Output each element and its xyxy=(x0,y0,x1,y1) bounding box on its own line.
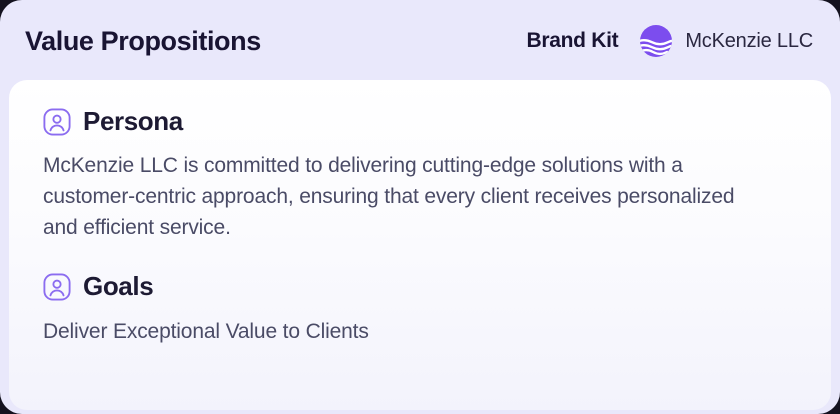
persona-user-icon xyxy=(43,273,71,301)
goals-section-body: Deliver Exceptional Value to Clients xyxy=(43,316,763,347)
brand-chip[interactable]: McKenzie LLC xyxy=(638,23,813,59)
goals-section: Goals Deliver Exceptional Value to Clien… xyxy=(43,271,797,347)
brand-kit-label: Brand Kit xyxy=(527,29,619,53)
page-title: Value Propositions xyxy=(25,26,261,57)
persona-section-title: Persona xyxy=(83,106,183,137)
sunset-waves-circle-logo-icon xyxy=(638,23,674,59)
card-header: Value Propositions Brand Kit xyxy=(0,0,840,82)
header-right-group: Brand Kit McKenzie LLC xyxy=(527,23,816,59)
persona-user-icon xyxy=(43,108,71,136)
value-propositions-card: Value Propositions Brand Kit xyxy=(0,0,840,414)
brand-name: McKenzie LLC xyxy=(685,30,813,53)
persona-section: Persona McKenzie LLC is committed to del… xyxy=(43,106,797,243)
goals-section-header: Goals xyxy=(43,271,797,302)
persona-section-header: Persona xyxy=(43,106,797,137)
goals-section-title: Goals xyxy=(83,271,153,302)
persona-section-body: McKenzie LLC is committed to delivering … xyxy=(43,150,763,243)
content-panel: Persona McKenzie LLC is committed to del… xyxy=(9,80,831,410)
